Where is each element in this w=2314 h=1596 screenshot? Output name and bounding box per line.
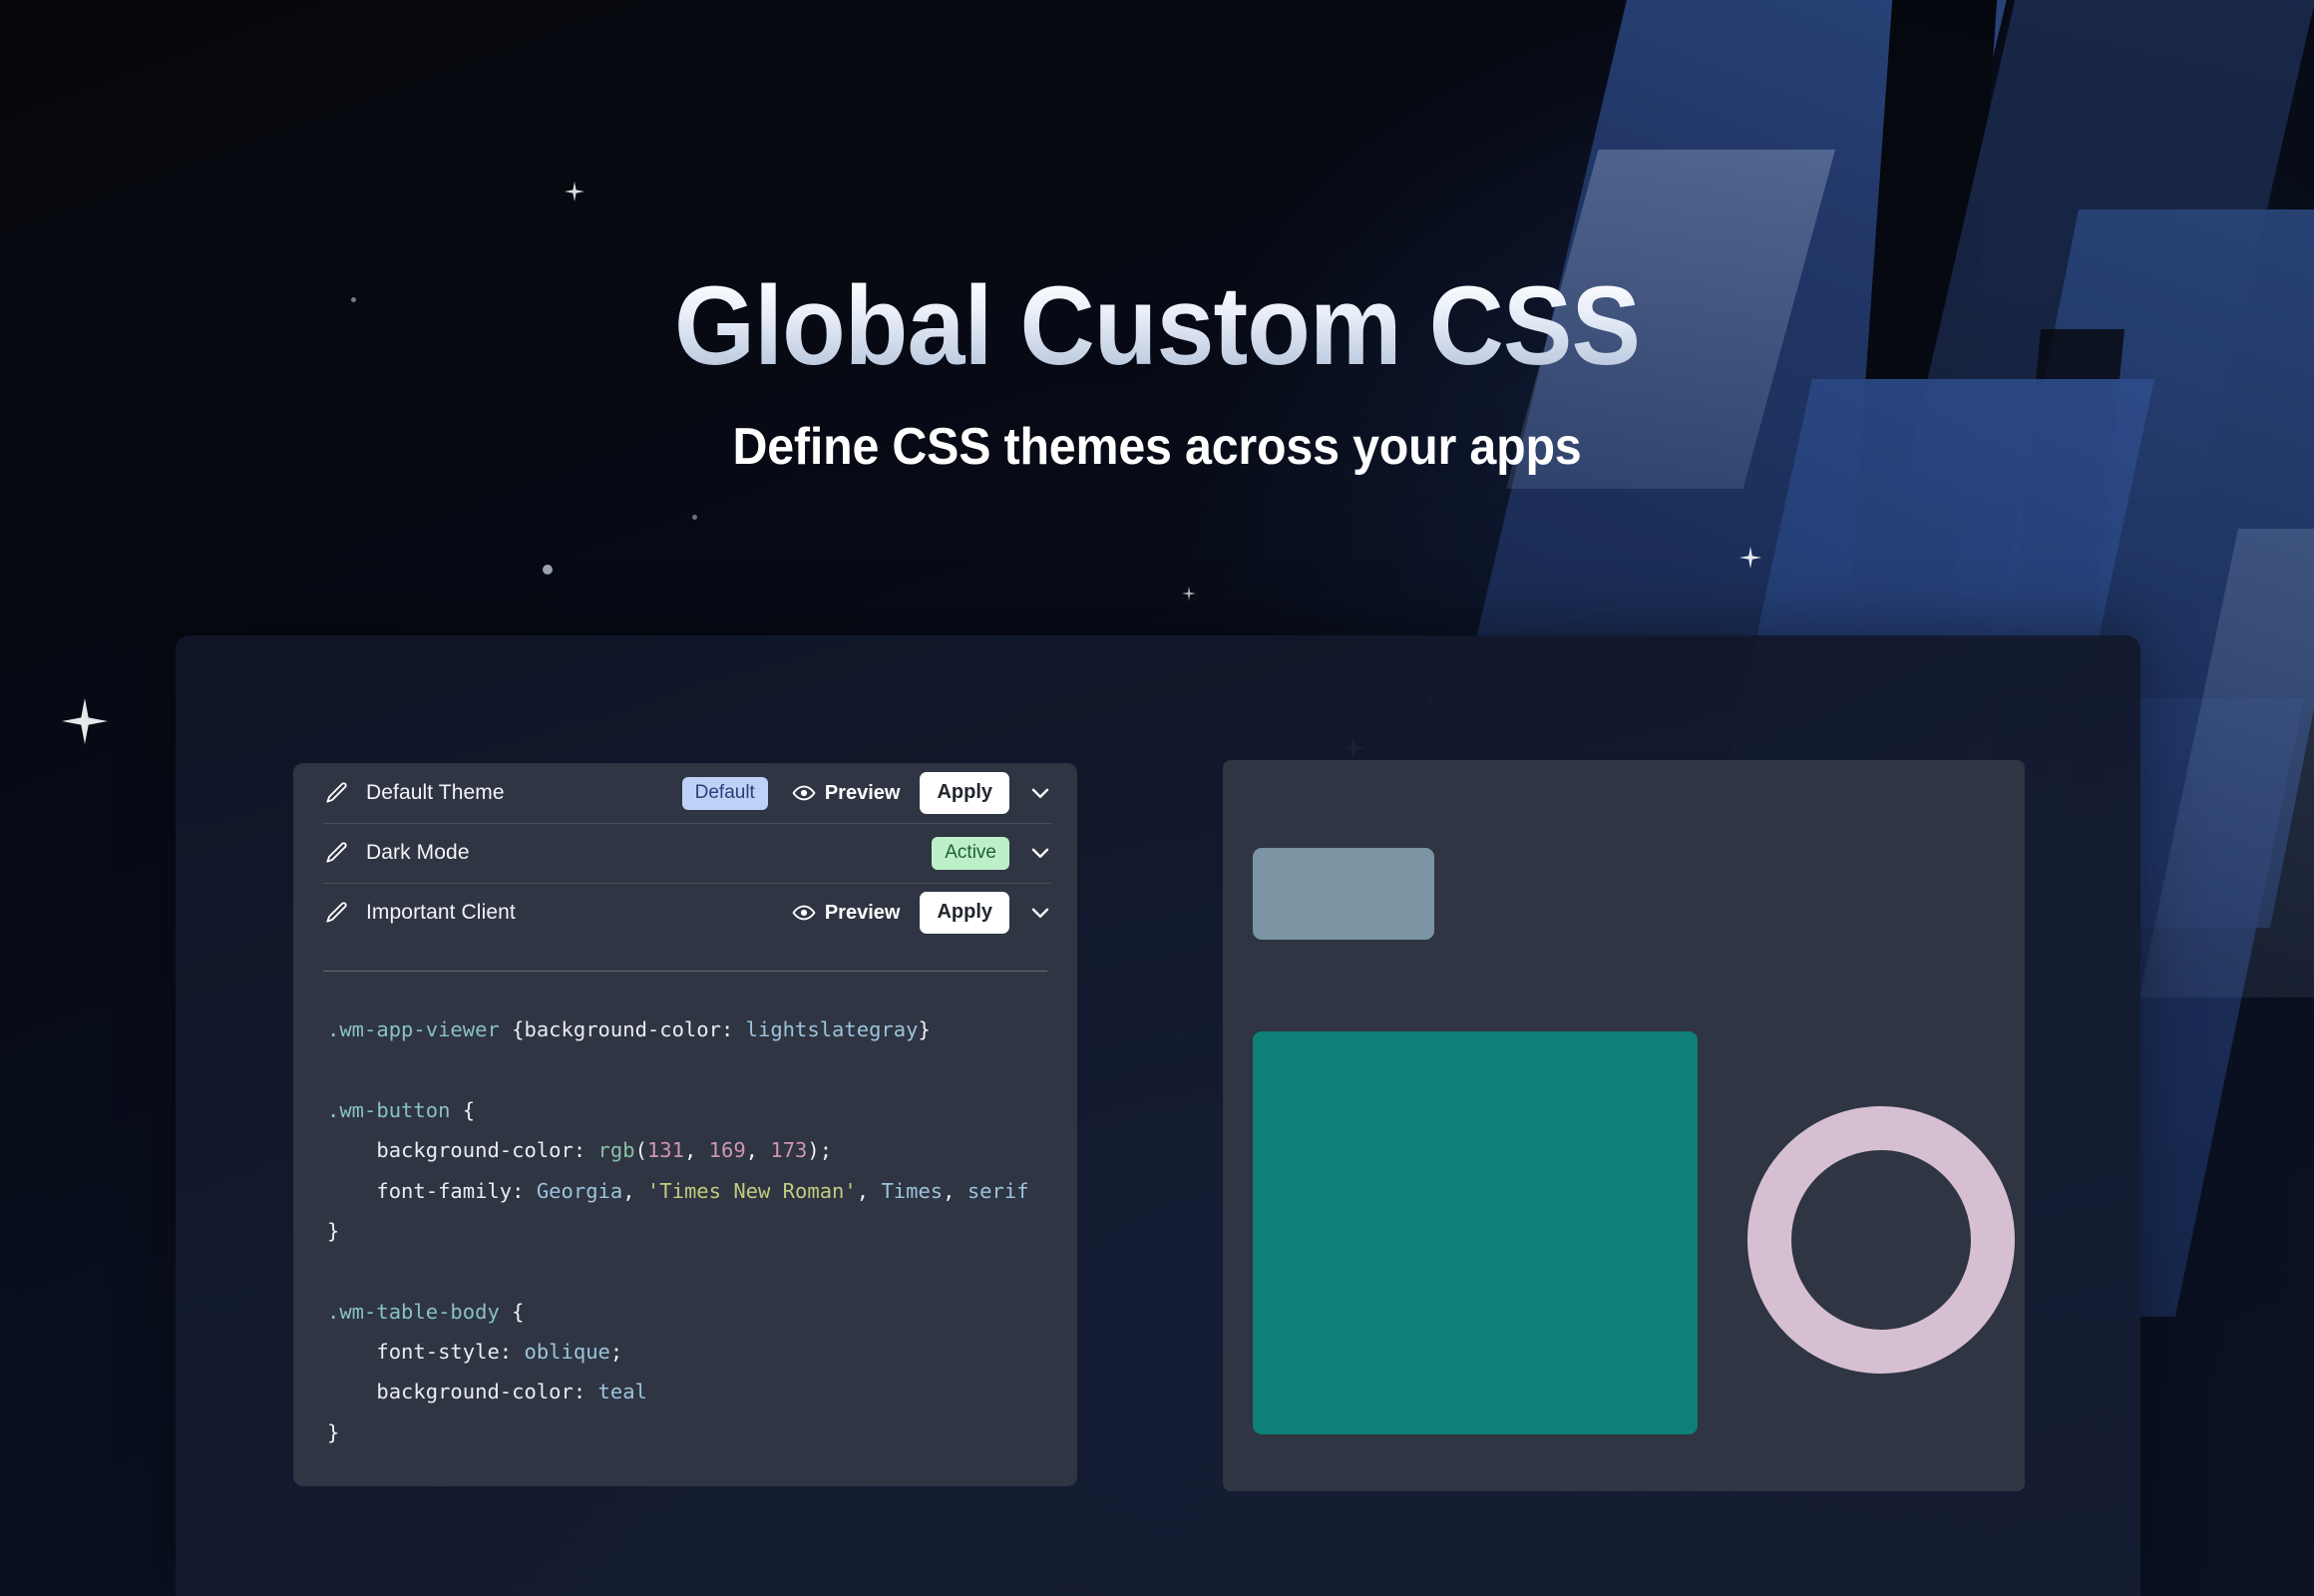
theme-name: Important Client	[366, 901, 516, 925]
css-code-editor[interactable]: .wm-app-viewer {background-color: lights…	[293, 1009, 1077, 1486]
status-badge: Default	[682, 777, 768, 810]
css-punct: ,	[746, 1138, 771, 1162]
css-property: font-family	[376, 1179, 512, 1203]
css-property: font-style	[376, 1340, 499, 1364]
theme-row-default-theme[interactable]: Default Theme Default Preview Apply	[293, 763, 1077, 823]
css-selector: .wm-button	[327, 1098, 450, 1122]
css-punct: }	[918, 1017, 930, 1041]
apply-button[interactable]: Apply	[920, 772, 1009, 814]
css-value: Georgia	[537, 1179, 622, 1203]
preview-wm-table-body-swatch	[1253, 1031, 1698, 1434]
css-string: 'Times New Roman'	[647, 1179, 857, 1203]
page-subtitle: Define CSS themes across your apps	[81, 417, 2233, 477]
pencil-icon[interactable]	[323, 900, 349, 926]
css-value: lightslategray	[746, 1017, 919, 1041]
chevron-down-icon[interactable]	[1025, 778, 1055, 808]
css-selector: .wm-table-body	[327, 1300, 500, 1324]
apply-button[interactable]: Apply	[920, 892, 1009, 934]
theme-row-dark-mode[interactable]: Dark Mode Active	[293, 823, 1077, 883]
css-value: oblique	[524, 1340, 609, 1364]
preview-button[interactable]: Preview	[792, 781, 901, 805]
pencil-icon[interactable]	[323, 840, 349, 866]
css-property: background-color	[376, 1380, 573, 1403]
css-punct: :	[500, 1340, 525, 1364]
css-punct: ,	[622, 1179, 647, 1203]
css-punct: {	[500, 1017, 525, 1041]
css-punct: :	[574, 1138, 598, 1162]
css-punct: (	[635, 1138, 647, 1162]
css-number: 173	[770, 1138, 807, 1162]
css-punct: ,	[684, 1138, 709, 1162]
css-punct: {	[450, 1098, 475, 1122]
status-badge: Active	[932, 837, 1009, 870]
page-title: Global Custom CSS	[81, 267, 2233, 385]
pencil-icon[interactable]	[323, 780, 349, 806]
sparkle-icon	[62, 698, 108, 744]
css-punct: :	[721, 1017, 746, 1041]
preview-wm-button-swatch[interactable]	[1253, 848, 1434, 940]
css-property: background-color	[376, 1138, 573, 1162]
css-number: 169	[709, 1138, 746, 1162]
preview-label: Preview	[825, 902, 901, 925]
hexagon-highlight-2	[2139, 529, 2314, 997]
css-value: Times	[881, 1179, 943, 1203]
css-value: serif	[967, 1179, 1029, 1203]
sparkle-icon	[565, 182, 584, 201]
css-punct: }	[327, 1420, 339, 1444]
hero-heading: Global Custom CSS Define CSS themes acro…	[0, 267, 2314, 477]
eye-icon	[792, 901, 816, 925]
css-selector: .wm-app-viewer	[327, 1017, 500, 1041]
star-dot	[692, 515, 697, 520]
css-punct: :	[512, 1179, 537, 1203]
chevron-down-icon[interactable]	[1025, 898, 1055, 928]
theme-row-important-client[interactable]: Important Client Preview Apply	[293, 883, 1077, 943]
css-punct: );	[807, 1138, 832, 1162]
css-punct: :	[574, 1380, 598, 1403]
star-dot	[543, 565, 553, 575]
preview-button[interactable]: Preview	[792, 901, 901, 925]
page-root: Global Custom CSS Define CSS themes acro…	[0, 0, 2314, 1596]
theme-name: Default Theme	[366, 781, 505, 805]
preview-label: Preview	[825, 782, 901, 805]
css-property: background-color	[524, 1017, 720, 1041]
sparkle-icon	[1182, 587, 1196, 600]
css-punct: ,	[943, 1179, 967, 1203]
theme-name: Dark Mode	[366, 841, 470, 865]
css-punct: }	[327, 1219, 339, 1243]
divider	[323, 971, 1047, 972]
css-function: rgb	[598, 1138, 635, 1162]
chevron-down-icon[interactable]	[1025, 838, 1055, 868]
css-punct: ,	[857, 1179, 882, 1203]
sparkle-icon	[1739, 547, 1761, 569]
theme-preview-card	[1223, 760, 2025, 1491]
css-number: 131	[647, 1138, 684, 1162]
theme-editor-card: Default Theme Default Preview Apply	[293, 763, 1077, 1486]
eye-icon	[792, 781, 816, 805]
preview-wm-pie-chart-swatch	[1747, 1106, 2015, 1374]
css-value: teal	[598, 1380, 647, 1403]
css-punct: ;	[610, 1340, 622, 1364]
css-punct: {	[500, 1300, 525, 1324]
